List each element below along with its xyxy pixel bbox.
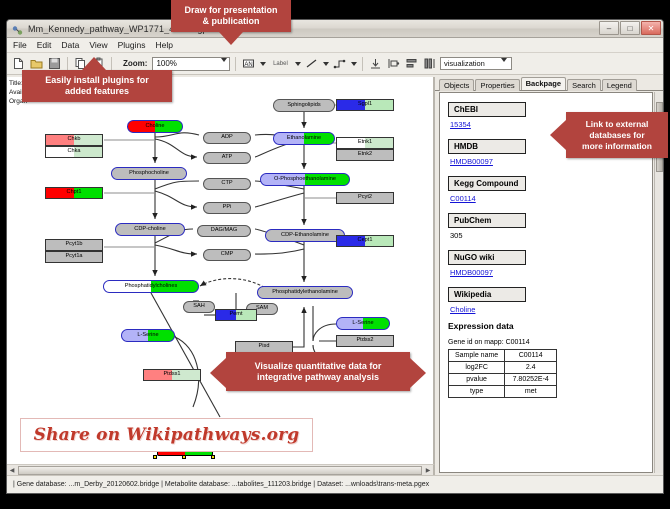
kegg-compound-link[interactable]: C00114 xyxy=(450,194,644,203)
chevron-down-icon[interactable] xyxy=(350,57,357,71)
table-row: Sample name C00114 xyxy=(449,350,557,362)
line-tool-icon[interactable] xyxy=(304,56,319,71)
table-cell-label: type xyxy=(449,386,505,398)
metabolite-node-cmp[interactable]: CMP xyxy=(203,249,251,261)
callout-visualize-right-arrow-icon xyxy=(410,358,426,388)
node-label: Chpt1 xyxy=(67,190,82,196)
node-label: Etnk1 xyxy=(358,140,372,146)
metabolite-node-choline-top[interactable]: Choline xyxy=(127,120,183,133)
new-file-icon[interactable] xyxy=(11,56,26,71)
node-label: Pcyt1a xyxy=(65,254,82,260)
menu-edit[interactable]: Edit xyxy=(36,40,53,50)
chevron-down-icon[interactable] xyxy=(221,62,227,71)
zoom-combo[interactable]: 100% xyxy=(152,57,230,71)
chevron-down-icon[interactable] xyxy=(294,57,301,71)
table-row: type met xyxy=(449,386,557,398)
metabolite-node-l-serine-left[interactable]: L-Serine xyxy=(121,329,175,342)
pubchem-header: PubChem xyxy=(448,213,526,228)
status-text: | Gene database: ...m_Derby_20120602.bri… xyxy=(13,481,429,488)
menu-plugins[interactable]: Plugins xyxy=(117,40,147,50)
node-label: Ptdss2 xyxy=(356,338,373,344)
metabolite-node-atp[interactable]: ATP xyxy=(203,152,251,164)
zoom-label: Zoom: xyxy=(123,59,147,68)
node-label: L-Serine xyxy=(352,321,373,327)
node-label: L-Serine xyxy=(137,333,158,339)
table-cell-value: 7.80252E-4 xyxy=(505,374,557,386)
table-cell-label: log2FC xyxy=(449,362,505,374)
callout-link-line1: Link to external xyxy=(586,119,649,130)
callout-plugins-line2: added features xyxy=(65,86,129,97)
svg-text:AN: AN xyxy=(245,62,253,68)
table-row: pvalue 7.80252E-4 xyxy=(449,374,557,386)
menu-view[interactable]: View xyxy=(88,40,108,50)
share-banner: Share on Wikipathways.org xyxy=(20,418,313,452)
metabolite-node-phosphatidylcholines[interactable]: Phosphatidylcholines xyxy=(103,280,199,293)
node-label: CTP xyxy=(221,181,232,187)
callout-visualize-line2: integrative pathway analysis xyxy=(257,372,379,383)
callout-draw: Draw for presentation & publication xyxy=(171,0,291,32)
node-label: Pcyt1b xyxy=(65,242,82,248)
metabolite-node-adp[interactable]: ADP xyxy=(203,132,251,144)
node-label: O-Phosphoethanolamine xyxy=(274,177,336,183)
menu-help[interactable]: Help xyxy=(155,40,174,50)
pathway-canvas[interactable]: Title: Availa Organ xyxy=(7,77,435,475)
nugo-wiki-header: NuGO wiki xyxy=(448,250,526,265)
node-label: CDP-choline xyxy=(134,227,165,233)
scroll-left-arrow-icon[interactable]: ◀ xyxy=(7,466,17,475)
pathvisio-app-icon xyxy=(12,23,23,34)
callout-draw-line1: Draw for presentation xyxy=(184,5,277,16)
visualization-select-value: visualization xyxy=(444,59,485,68)
node-label: Ethanolamine xyxy=(287,136,321,142)
metabolite-node-sah[interactable]: SAH xyxy=(183,301,215,313)
tab-objects[interactable]: Objects xyxy=(439,79,474,91)
close-button[interactable]: ✕ xyxy=(641,21,661,35)
nugo-wiki-link[interactable]: HMDB00097 xyxy=(450,268,644,277)
table-cell-value: C00114 xyxy=(505,350,557,362)
tab-search[interactable]: Search xyxy=(567,79,601,91)
node-label: CMP xyxy=(221,252,233,258)
callout-plugins: Easily install plugins for added feature… xyxy=(22,70,172,102)
node-label: SAM xyxy=(256,306,268,312)
gene-node-pcyt2[interactable]: Pcyt2 xyxy=(336,192,394,204)
node-label: Phosphocholine xyxy=(129,171,169,177)
kegg-compound-header: Kegg Compound xyxy=(448,176,526,191)
wikipedia-link[interactable]: Choline xyxy=(450,305,644,314)
tab-legend[interactable]: Legend xyxy=(602,79,637,91)
selection-handle[interactable] xyxy=(182,455,186,459)
node-label: Etnk2 xyxy=(358,152,372,158)
node-label: PPi xyxy=(223,205,232,211)
node-label: Chkb xyxy=(67,137,80,143)
menu-file[interactable]: File xyxy=(12,40,28,50)
hmdb-header: HMDB xyxy=(448,139,526,154)
metabolite-node-o-phosphoethanolamine[interactable]: O-Phosphoethanolamine xyxy=(260,173,350,186)
gene-node-sgpl1[interactable]: Sgpl1 xyxy=(336,99,394,111)
callout-link-arrow-icon xyxy=(550,120,566,150)
chevron-down-icon[interactable] xyxy=(322,57,329,71)
zoom-value: 100% xyxy=(156,59,176,68)
node-label: Sphingolipids xyxy=(287,103,320,109)
callout-draw-arrow-icon xyxy=(219,32,243,45)
expression-table: Sample name C00114 log2FC 2.4 pvalue 7.8… xyxy=(448,349,557,398)
node-label: CDP-Ethanolamine xyxy=(281,233,329,239)
node-label: Pemt xyxy=(229,312,242,318)
chebi-header: ChEBI xyxy=(448,102,526,117)
toolbar-separator xyxy=(235,57,236,71)
status-bar: | Gene database: ...m_Derby_20120602.bri… xyxy=(7,475,663,493)
wikipedia-header: Wikipedia xyxy=(448,287,526,302)
metabolite-node-phosphocholine[interactable]: Phosphocholine xyxy=(111,167,187,180)
gene-node-pcyt1b[interactable]: Pcyt1b xyxy=(45,239,103,251)
menu-data[interactable]: Data xyxy=(60,40,80,50)
callout-link-line2: databases for xyxy=(589,130,644,141)
tab-backpage[interactable]: Backpage xyxy=(521,77,566,90)
table-cell-value: met xyxy=(505,386,557,398)
metabolite-node-cdp-ethanolamine[interactable]: CDP-Ethanolamine xyxy=(265,229,345,242)
selection-handle[interactable] xyxy=(211,455,215,459)
chevron-down-icon[interactable] xyxy=(501,62,507,71)
callout-link-line3: more information xyxy=(582,141,652,152)
text-label-icon[interactable]: AN xyxy=(241,56,256,71)
table-cell-value: 2.4 xyxy=(505,362,557,374)
node-label: SAH xyxy=(193,304,205,310)
node-label: Chka xyxy=(67,149,80,155)
toolbar-separator xyxy=(111,57,112,71)
node-label: Choline xyxy=(146,124,165,130)
node-label: Cept1 xyxy=(358,238,373,244)
distribute-vertical-icon[interactable] xyxy=(404,56,419,71)
callout-draw-line2: & publication xyxy=(203,16,260,27)
gene-node-etnk2[interactable]: Etnk2 xyxy=(336,149,394,161)
callout-visualize-left-arrow-icon xyxy=(210,358,226,388)
visualization-select[interactable]: visualization xyxy=(440,57,512,70)
side-tabs: Objects Properties Backpage Search Legen… xyxy=(435,77,663,91)
node-label: Phosphatidylethanolamine xyxy=(272,290,338,296)
node-label: DAG/MAG xyxy=(211,228,237,234)
table-row: log2FC 2.4 xyxy=(449,362,557,374)
metabolite-node-cdp-choline[interactable]: CDP-choline xyxy=(115,223,185,236)
node-label: Phosphatidylcholines xyxy=(125,284,178,290)
metabolite-node-ctp[interactable]: CTP xyxy=(203,178,251,190)
gene-node-pemt[interactable]: Pemt xyxy=(215,309,257,321)
metabolite-node-sphingolipids[interactable]: Sphingolipids xyxy=(273,99,335,112)
node-label: ATP xyxy=(222,155,232,161)
toolbar-separator xyxy=(362,57,363,71)
gene-node-chkb[interactable]: Chkb xyxy=(45,134,103,146)
callout-visualize: Visualize quantitative data for integrat… xyxy=(226,352,410,391)
chevron-down-icon[interactable] xyxy=(259,57,266,71)
minimize-button[interactable]: – xyxy=(599,21,619,35)
title-bar: Mm_Kennedy_pathway_WP1771_45176.gpml – □… xyxy=(7,20,663,38)
gene-node-chka[interactable]: Chka xyxy=(45,146,103,158)
align-left-icon[interactable] xyxy=(386,56,401,71)
table-cell-label: Sample name xyxy=(449,350,505,362)
node-label: Pcyt2 xyxy=(358,195,372,201)
expression-data-title: Expression data xyxy=(448,321,644,331)
gene-node-ptdss1[interactable]: Ptdss1 xyxy=(143,369,201,381)
gene-node-ptdss2[interactable]: Ptdss2 xyxy=(336,335,394,347)
metabolite-node-phosphatidylethanolamine[interactable]: Phosphatidylethanolamine xyxy=(257,286,353,299)
table-cell-label: pvalue xyxy=(449,374,505,386)
callout-plugins-line1: Easily install plugins for xyxy=(45,75,149,86)
scrollbar-thumb[interactable] xyxy=(18,466,422,475)
metabolite-node-ethanolamine-top[interactable]: Ethanolamine xyxy=(273,132,335,145)
tab-properties[interactable]: Properties xyxy=(475,79,519,91)
canvas-horizontal-scrollbar[interactable]: ◀ ▶ xyxy=(7,464,435,475)
hmdb-link[interactable]: HMDB00097 xyxy=(450,157,644,166)
connector-tool-icon[interactable] xyxy=(332,56,347,71)
gene-node-chpt1-left[interactable]: Chpt1 xyxy=(45,187,103,199)
distribute-horizontal-icon[interactable] xyxy=(422,56,437,71)
gene-node-pcyt1a[interactable]: Pcyt1a xyxy=(45,251,103,263)
callout-link: Link to external databases for more info… xyxy=(566,112,668,158)
save-icon[interactable] xyxy=(47,56,62,71)
menu-bar: File Edit Data View Plugins Help xyxy=(7,38,663,53)
node-label: ADP xyxy=(221,135,233,141)
gene-node-cept1[interactable]: Cept1 xyxy=(336,235,394,247)
open-folder-icon[interactable] xyxy=(29,56,44,71)
pubchem-value: 305 xyxy=(450,231,644,240)
screenshot-root: Mm_Kennedy_pathway_WP1771_45176.gpml – □… xyxy=(0,0,670,509)
node-label: Pisd xyxy=(259,344,270,350)
callout-visualize-line1: Visualize quantitative data for xyxy=(255,361,382,372)
share-banner-text: Share on Wikipathways.org xyxy=(34,425,300,445)
metabolite-node-dag-mag[interactable]: DAG/MAG xyxy=(197,225,251,237)
node-label: Ptdss1 xyxy=(163,372,180,378)
metabolite-node-l-serine-right[interactable]: L-Serine xyxy=(336,317,390,330)
gene-node-etnk1[interactable]: Etnk1 xyxy=(336,137,394,149)
scroll-right-arrow-icon[interactable]: ▶ xyxy=(423,466,433,475)
toolbar-separator xyxy=(67,57,68,71)
label-tool-icon[interactable]: Label xyxy=(269,56,291,71)
window-buttons: – □ ✕ xyxy=(599,21,661,35)
align-bottom-icon[interactable] xyxy=(368,56,383,71)
metabolite-node-ppi[interactable]: PPi xyxy=(203,202,251,214)
gene-id-line: Gene id on mapp: C00114 xyxy=(448,339,644,346)
maximize-button[interactable]: □ xyxy=(620,21,640,35)
node-label: Sgpl1 xyxy=(358,102,372,108)
selection-handle[interactable] xyxy=(153,455,157,459)
callout-plugins-arrow-icon xyxy=(82,57,106,70)
